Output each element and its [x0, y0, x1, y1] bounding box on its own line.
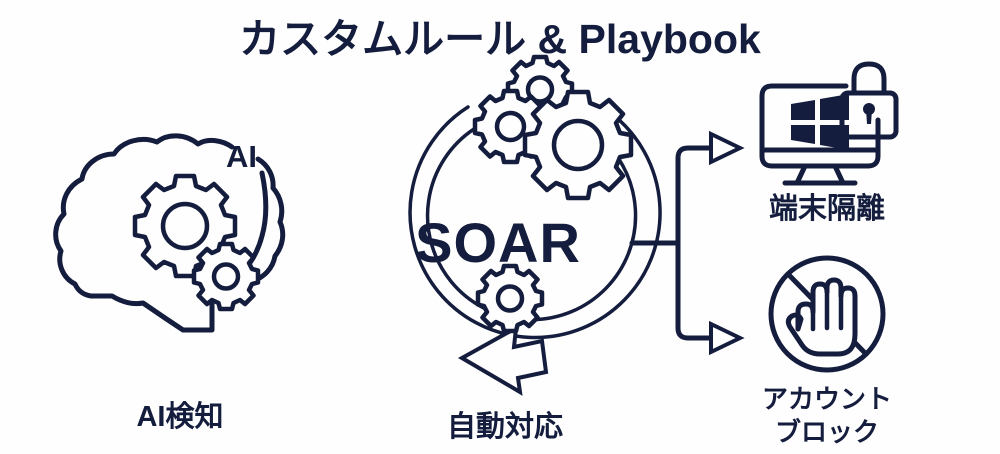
- brain-gears-icon: AI: [56, 136, 283, 330]
- caption-account-block-line1: アカウント: [762, 384, 892, 414]
- open-hand-shape: [788, 280, 855, 354]
- caption-account-block-line2: ブロック: [775, 417, 879, 447]
- page-title: カスタムルール & Playbook: [239, 16, 761, 62]
- soar-cycle-icon: SOAR: [410, 57, 660, 392]
- soar-to-outputs-branch: [632, 134, 740, 352]
- branch-arrowhead-top: [711, 134, 740, 162]
- caption-ai-detection: AI検知: [136, 399, 223, 433]
- soar-gear-center-bottom: [478, 266, 542, 331]
- branch-arrowhead-bottom: [711, 324, 740, 352]
- soar-playbook-diagram: カスタムルール & Playbook AI AI検知: [0, 0, 1000, 454]
- padlock-icon: [842, 64, 896, 137]
- soar-gear-large-right: [525, 92, 631, 198]
- ai-badge-label: AI: [226, 139, 257, 174]
- soar-center-label: SOAR: [415, 211, 581, 274]
- diagram-canvas: カスタムルール & Playbook AI AI検知: [0, 0, 1000, 454]
- caption-auto-response: 自動対応: [447, 410, 563, 443]
- monitor-lock-icon: [762, 64, 896, 183]
- hand-block-icon: [771, 258, 883, 370]
- brain-gear-small: [194, 244, 258, 309]
- caption-endpoint-isolation: 端末隔離: [769, 192, 885, 225]
